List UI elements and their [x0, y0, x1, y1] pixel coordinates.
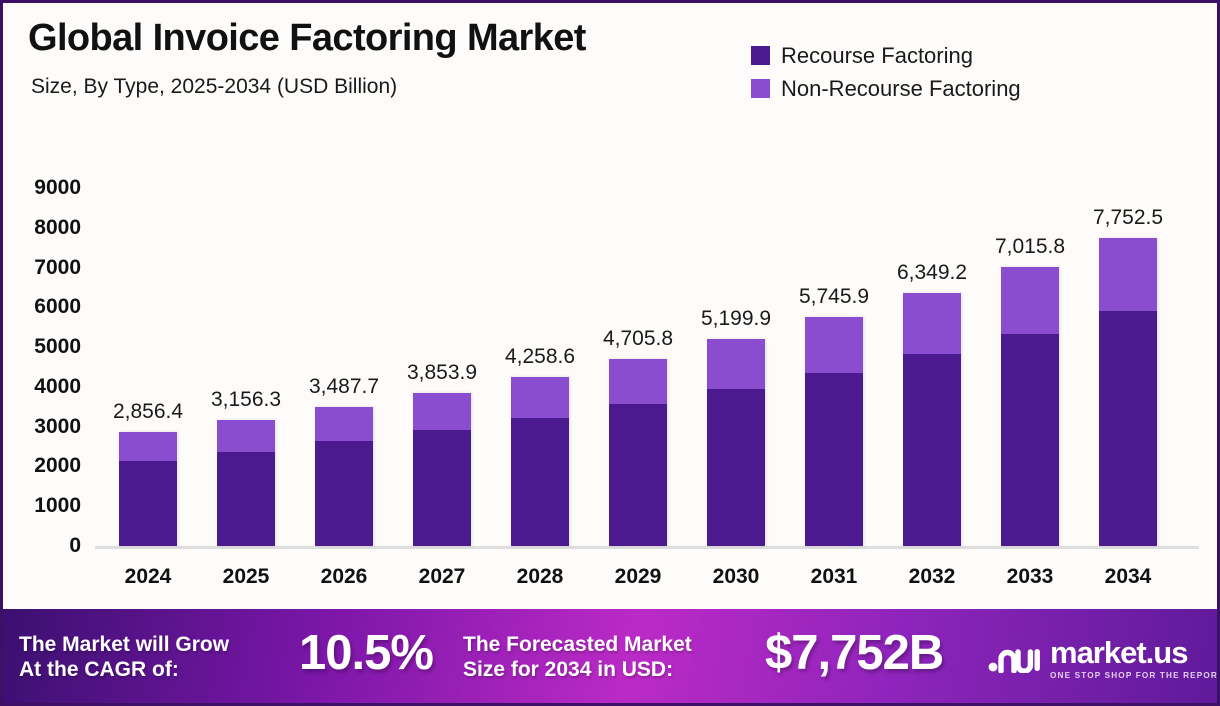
bar-total-label: 7,752.5	[1093, 206, 1163, 230]
bar-stack[interactable]	[511, 377, 569, 546]
x-axis-tick: 2027	[393, 565, 491, 589]
forecast-label: The Forecasted Market Size for 2034 in U…	[463, 633, 692, 683]
bar-segment-non-recourse[interactable]	[217, 420, 275, 451]
x-axis-tick: 2032	[883, 565, 981, 589]
bar-total-label: 3,156.3	[211, 388, 281, 412]
bar-total-label: 4,705.8	[603, 327, 673, 351]
cagr-label: The Market will Grow At the CAGR of:	[19, 633, 229, 683]
legend-swatch-recourse	[751, 46, 770, 65]
bar-segment-recourse[interactable]	[511, 418, 569, 546]
bar-group[interactable]: 5,745.9	[785, 317, 883, 546]
bar-stack[interactable]	[413, 393, 471, 546]
bar-segment-non-recourse[interactable]	[1001, 267, 1059, 334]
bar-group[interactable]: 7,752.5	[1079, 238, 1177, 546]
bar-total-label: 2,856.4	[113, 400, 183, 424]
forecast-label-line2: Size for 2034 in USD:	[463, 658, 692, 683]
bar-segment-non-recourse[interactable]	[511, 377, 569, 419]
bar-group[interactable]: 3,156.3	[197, 420, 295, 546]
y-axis: 9000800070006000500040003000200010000	[3, 115, 91, 603]
bar-segment-recourse[interactable]	[119, 461, 177, 546]
bar-segment-recourse[interactable]	[805, 373, 863, 546]
x-axis-tick: 2024	[99, 565, 197, 589]
bar-total-label: 7,015.8	[995, 235, 1065, 259]
cagr-value: 10.5%	[299, 625, 433, 681]
x-axis-tick: 2030	[687, 565, 785, 589]
x-axis-tick: 2034	[1079, 565, 1177, 589]
y-axis-tick: 7000	[34, 256, 81, 280]
bar-segment-recourse[interactable]	[707, 389, 765, 546]
bar-total-label: 3,487.7	[309, 375, 379, 399]
bar-total-label: 6,349.2	[897, 261, 967, 285]
bar-stack[interactable]	[903, 293, 961, 546]
bar-segment-non-recourse[interactable]	[1099, 238, 1157, 311]
chart-legend: Recourse Factoring Non-Recourse Factorin…	[751, 39, 1021, 105]
bar-total-label: 5,745.9	[799, 285, 869, 309]
bar-segment-recourse[interactable]	[413, 430, 471, 546]
bar-segment-non-recourse[interactable]	[315, 407, 373, 441]
bar-stack[interactable]	[707, 339, 765, 546]
y-axis-tick: 4000	[34, 375, 81, 399]
x-axis-tick: 2025	[197, 565, 295, 589]
bar-group[interactable]: 5,199.9	[687, 339, 785, 546]
bar-group[interactable]: 3,853.9	[393, 393, 491, 546]
bar-stack[interactable]	[1099, 238, 1157, 546]
forecast-label-line1: The Forecasted Market	[463, 633, 692, 658]
y-axis-tick: 5000	[34, 335, 81, 359]
x-axis-tick: 2029	[589, 565, 687, 589]
bar-stack[interactable]	[119, 432, 177, 546]
cagr-label-line2: At the CAGR of:	[19, 658, 229, 683]
bar-group[interactable]: 3,487.7	[295, 407, 393, 546]
bar-group[interactable]: 4,258.6	[491, 377, 589, 546]
bar-segment-recourse[interactable]	[1001, 334, 1059, 546]
y-axis-tick: 3000	[34, 415, 81, 439]
y-axis-tick: 8000	[34, 216, 81, 240]
y-axis-tick: 9000	[34, 176, 81, 200]
bar-segment-recourse[interactable]	[217, 452, 275, 546]
bar-segment-recourse[interactable]	[315, 441, 373, 546]
logo-name: market.us	[1050, 637, 1217, 668]
bar-group[interactable]: 4,705.8	[589, 359, 687, 546]
bar-segment-recourse[interactable]	[1099, 311, 1157, 546]
chart-header: Global Invoice Factoring Market Size, By…	[3, 3, 1217, 115]
y-axis-tick: 2000	[34, 454, 81, 478]
bar-segment-recourse[interactable]	[609, 404, 667, 546]
bar-total-label: 4,258.6	[505, 345, 575, 369]
brand-logo: market.us ONE STOP SHOP FOR THE REPORTS	[988, 637, 1217, 680]
legend-label-recourse: Recourse Factoring	[781, 43, 973, 69]
bar-group[interactable]: 2,856.4	[99, 432, 197, 546]
chart-plot-area: 9000800070006000500040003000200010000 2,…	[3, 115, 1217, 603]
bar-stack[interactable]	[805, 317, 863, 546]
x-axis-tick: 2028	[491, 565, 589, 589]
chart-infographic: Global Invoice Factoring Market Size, By…	[0, 0, 1220, 706]
bar-stack[interactable]	[1001, 267, 1059, 546]
bar-stack[interactable]	[315, 407, 373, 546]
legend-swatch-non-recourse	[751, 79, 770, 98]
cagr-label-line1: The Market will Grow	[19, 633, 229, 658]
bar-series-container: 2,856.420243,156.320253,487.720263,853.9…	[95, 115, 1199, 603]
bar-segment-non-recourse[interactable]	[413, 393, 471, 431]
bar-group[interactable]: 6,349.2	[883, 293, 981, 546]
bar-total-label: 5,199.9	[701, 307, 771, 331]
market-us-logo-icon	[988, 639, 1042, 678]
legend-item-recourse: Recourse Factoring	[751, 39, 1021, 72]
bar-segment-non-recourse[interactable]	[903, 293, 961, 354]
bar-segment-non-recourse[interactable]	[707, 339, 765, 389]
x-axis-tick: 2033	[981, 565, 1079, 589]
bar-segment-non-recourse[interactable]	[609, 359, 667, 405]
bar-stack[interactable]	[609, 359, 667, 546]
forecast-value: $7,752B	[765, 625, 943, 681]
bar-total-label: 3,853.9	[407, 361, 477, 385]
x-axis-tick: 2031	[785, 565, 883, 589]
bar-segment-recourse[interactable]	[903, 354, 961, 546]
legend-label-non-recourse: Non-Recourse Factoring	[781, 76, 1021, 102]
logo-tagline: ONE STOP SHOP FOR THE REPORTS	[1050, 671, 1217, 680]
x-axis-tick: 2026	[295, 565, 393, 589]
logo-text: market.us ONE STOP SHOP FOR THE REPORTS	[1050, 637, 1217, 680]
legend-item-non-recourse: Non-Recourse Factoring	[751, 72, 1021, 105]
y-axis-tick: 1000	[34, 494, 81, 518]
page-title: Global Invoice Factoring Market	[28, 17, 586, 60]
bar-stack[interactable]	[217, 420, 275, 546]
summary-banner: The Market will Grow At the CAGR of: 10.…	[3, 609, 1217, 703]
page-subtitle: Size, By Type, 2025-2034 (USD Billion)	[31, 75, 397, 99]
bar-segment-non-recourse[interactable]	[119, 432, 177, 460]
bar-group[interactable]: 7,015.8	[981, 267, 1079, 546]
y-axis-tick: 0	[69, 534, 81, 558]
y-axis-tick: 6000	[34, 295, 81, 319]
bar-segment-non-recourse[interactable]	[805, 317, 863, 372]
